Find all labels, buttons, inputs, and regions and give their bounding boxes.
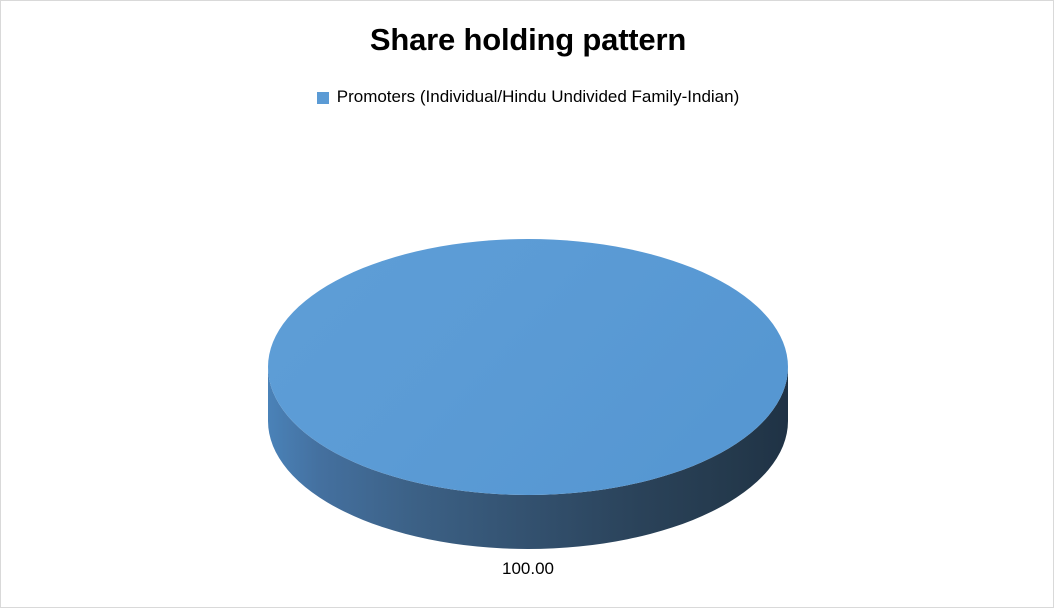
pie-3d-graphic [1, 1, 1054, 608]
pie-slice-promoters[interactable] [268, 239, 788, 495]
pie-slice-data-label: 100.00 [1, 558, 1054, 580]
pie-chart-plot-area [1, 1, 1054, 608]
chart-canvas: Share holding pattern Promoters (Individ… [0, 0, 1054, 608]
